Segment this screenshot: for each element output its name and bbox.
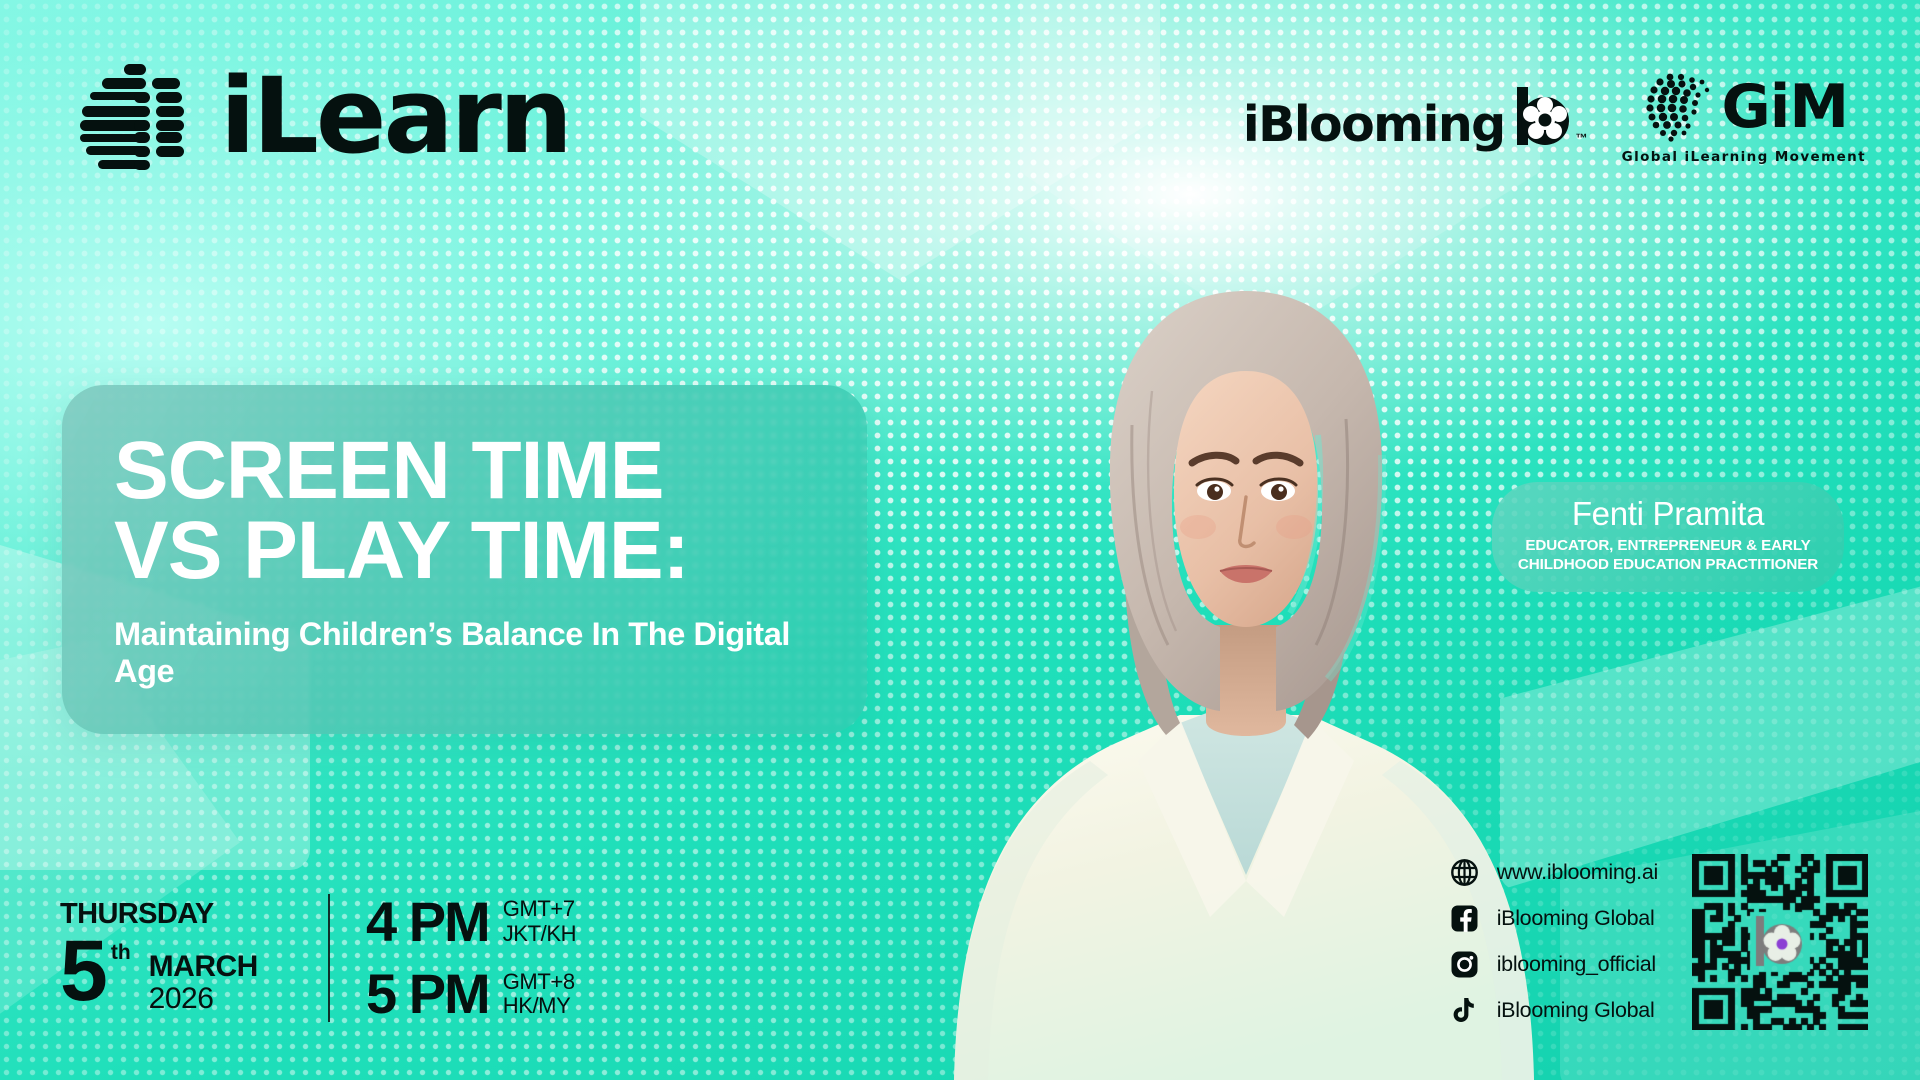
event-year: 2026 — [149, 982, 258, 1017]
event-month-year: MARCH 2026 — [149, 951, 258, 1017]
social-label: www.iblooming.ai — [1497, 860, 1658, 885]
equalizer-bars-icon — [78, 60, 186, 172]
datetime-divider — [328, 894, 330, 1022]
time-row: 5 PM GMT+8 HK/MY — [366, 969, 576, 1019]
time-value: 4 PM — [366, 897, 489, 947]
chevron-shape-right — [1500, 560, 1920, 890]
ilearn-wordmark: iLearn — [220, 64, 570, 168]
time-cities: HK/MY — [503, 993, 571, 1018]
event-date-row: 5 th MARCH 2026 — [60, 935, 292, 1017]
title-line-2: VS PLAY TIME: — [114, 511, 815, 591]
iblooming-logo-lockup: iBlooming ™ — [1243, 83, 1588, 149]
title-line-1: SCREEN TIME — [114, 425, 663, 516]
title-card: SCREEN TIME VS PLAY TIME: Maintaining Ch… — [62, 385, 867, 734]
banner-header: iLearn iBlooming — [0, 46, 1920, 186]
flower-b-icon — [1507, 83, 1573, 149]
event-month: MARCH — [149, 951, 258, 983]
page-title: SCREEN TIME VS PLAY TIME: — [114, 431, 815, 592]
instagram-icon — [1451, 951, 1478, 978]
partner-logos: iBlooming ™ — [1243, 68, 1866, 165]
time-cities: JKT/KH — [503, 921, 576, 946]
time-value: 5 PM — [366, 969, 489, 1019]
iblooming-wordmark: iBlooming — [1243, 100, 1505, 149]
time-gmt-offset: GMT+7 — [503, 896, 575, 921]
ilearn-logo-lockup: iLearn — [78, 60, 570, 172]
gim-logo-row: GiM — [1640, 68, 1849, 146]
event-day-ordinal: th — [111, 941, 131, 965]
qr-code[interactable] — [1692, 854, 1868, 1030]
speaker-name-badge: Fenti Pramita EDUCATOR, ENTREPRENEUR & E… — [1492, 482, 1844, 592]
gim-tagline: Global iLearning Movement — [1622, 149, 1866, 165]
social-link-facebook[interactable]: iBlooming Global — [1451, 905, 1658, 932]
social-link-tiktok[interactable]: iBlooming Global — [1451, 997, 1658, 1024]
social-link-website[interactable]: www.iblooming.ai — [1451, 859, 1658, 886]
time-gmt-offset: GMT+8 — [503, 969, 575, 994]
speaker-role-line-2: CHILDHOOD EDUCATION PRACTITIONER — [1518, 556, 1818, 573]
event-times: 4 PM GMT+7 JKT/KH 5 PM GMT+8 HK/MY — [366, 897, 576, 1020]
gim-wordmark: GiM — [1722, 77, 1849, 137]
facebook-icon — [1451, 905, 1478, 932]
speaker-name: Fenti Pramita — [1514, 496, 1822, 532]
social-links: www.iblooming.ai iBlooming Global ibloom… — [1451, 859, 1658, 1024]
event-day-number: 5 — [60, 935, 105, 1007]
time-zone-block: GMT+8 HK/MY — [503, 970, 575, 1019]
time-zone-block: GMT+7 JKT/KH — [503, 897, 576, 946]
webinar-promo-banner: iLearn iBlooming — [0, 0, 1920, 1080]
event-datetime: THURSDAY 5 th MARCH 2026 4 PM GMT+7 JKT/… — [60, 894, 576, 1022]
speaker-role: EDUCATOR, ENTREPRENEUR & EARLY CHILDHOOD… — [1514, 537, 1822, 574]
time-row: 4 PM GMT+7 JKT/KH — [366, 897, 576, 947]
trademark-symbol: ™ — [1576, 131, 1588, 145]
event-date: THURSDAY 5 th MARCH 2026 — [60, 900, 292, 1017]
social-label: iblooming_official — [1497, 952, 1656, 977]
speaker-role-line-1: EDUCATOR, ENTREPRENEUR & EARLY — [1525, 537, 1810, 554]
qr-code-canvas — [1692, 854, 1868, 1030]
title-subtitle: Maintaining Children’s Balance In The Di… — [114, 616, 815, 690]
social-label: iBlooming Global — [1497, 998, 1655, 1023]
dotted-globe-icon — [1640, 68, 1718, 146]
tiktok-icon — [1451, 997, 1478, 1024]
gim-logo-lockup: GiM Global iLearning Movement — [1622, 68, 1866, 165]
social-link-instagram[interactable]: iblooming_official — [1451, 951, 1658, 978]
globe-icon — [1451, 859, 1478, 886]
social-label: iBlooming Global — [1497, 906, 1655, 931]
